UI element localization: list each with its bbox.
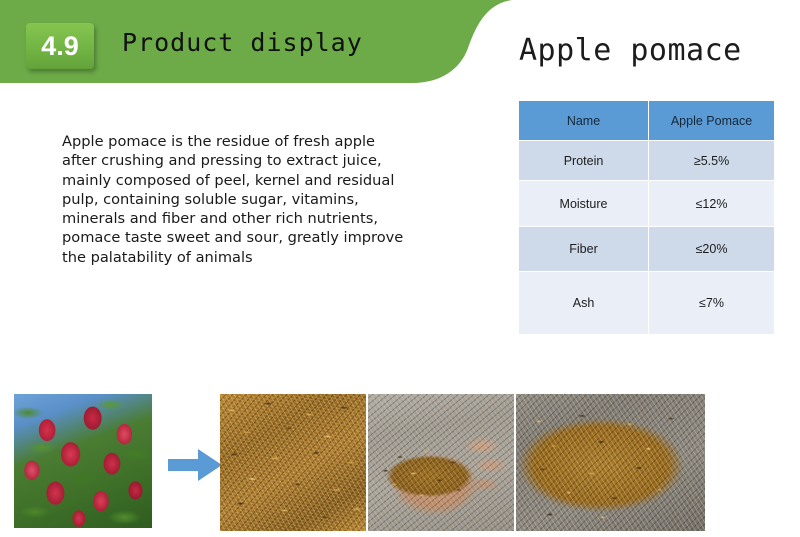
apple-tree-photo [14, 394, 152, 528]
product-name-heading: Apple pomace [519, 33, 742, 68]
table-cell-value: ≤7% [649, 272, 774, 334]
pomace-closeup-photo [516, 394, 705, 531]
table-cell-name: Protein [519, 141, 648, 180]
table-row: Protein ≥5.5% [519, 141, 774, 180]
section-number-label: 4.9 [41, 33, 79, 60]
pomace-hand-photo [368, 394, 514, 531]
pomace-pile-photo [220, 394, 366, 531]
table-header-name: Name [519, 101, 648, 140]
table-cell-value: ≤12% [649, 181, 774, 226]
table-cell-name: Moisture [519, 181, 648, 226]
table-cell-value: ≥5.5% [649, 141, 774, 180]
table-cell-name: Ash [519, 272, 648, 334]
arrow-right-icon [168, 449, 222, 481]
section-number-badge: 4.9 [26, 23, 94, 69]
table-row: Moisture ≤12% [519, 181, 774, 226]
table-row: Fiber ≤20% [519, 227, 774, 271]
specification-table: Name Apple Pomace Protein ≥5.5% Moisture… [518, 100, 775, 335]
table-cell-value: ≤20% [649, 227, 774, 271]
table-row: Ash ≤7% [519, 272, 774, 334]
table-header-row: Name Apple Pomace [519, 101, 774, 140]
product-description: Apple pomace is the residue of fresh app… [62, 132, 414, 267]
table-cell-name: Fiber [519, 227, 648, 271]
table-header-value: Apple Pomace [649, 101, 774, 140]
page-title: Product display [122, 28, 363, 57]
